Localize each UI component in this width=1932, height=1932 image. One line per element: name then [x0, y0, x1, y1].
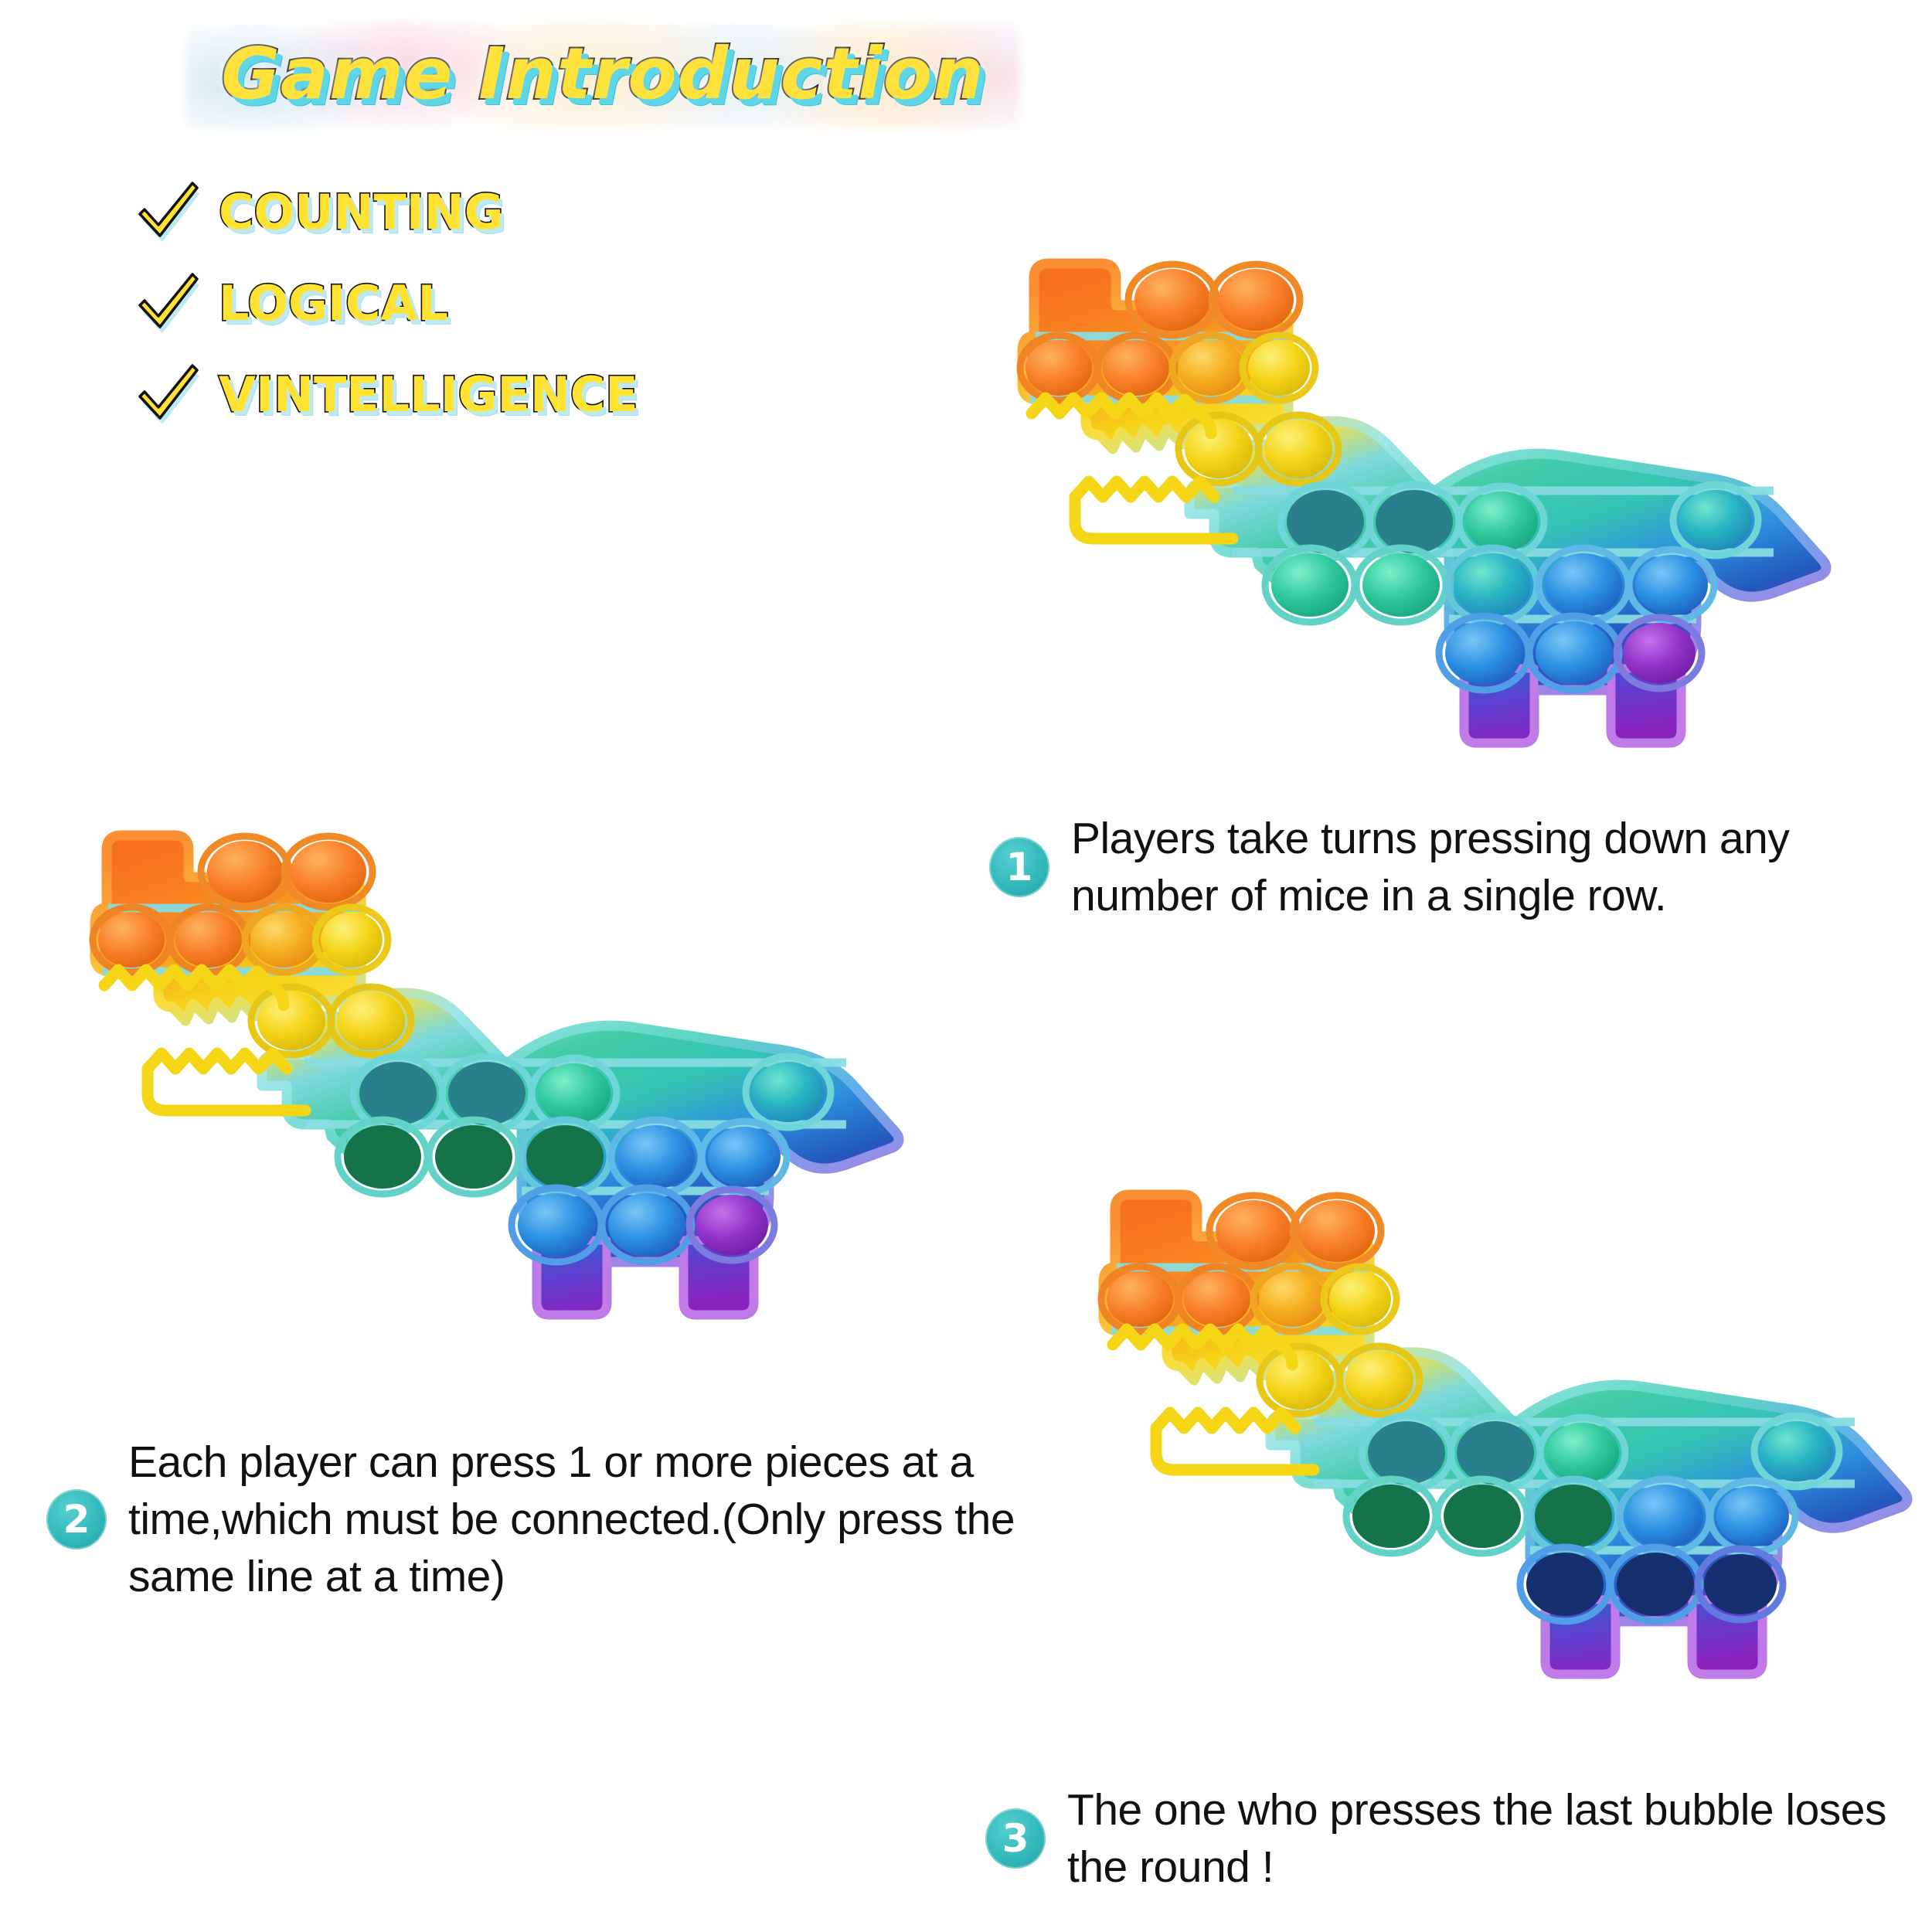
row-belly: [1520, 1547, 1783, 1621]
bubble-pressed: [1526, 1553, 1604, 1616]
feature-label: VINTELLIGENCE: [219, 366, 638, 423]
row-back: [1362, 1416, 1839, 1490]
step-number-badge: 1: [989, 837, 1049, 897]
feature-item-counting: COUNTING: [135, 166, 692, 257]
step-number-badge: 3: [985, 1808, 1046, 1869]
check-mark-icon: [135, 270, 202, 336]
feature-checklist: COUNTING LOGICAL VINTELLIGENCE: [135, 166, 692, 440]
dinosaur-pop-it-toy-2: [73, 761, 927, 1383]
row-head-middle: [1020, 335, 1315, 400]
bubble-pressed: [1535, 1485, 1612, 1548]
row-head-middle: [93, 907, 388, 972]
feature-item-vintelligence: VINTELLIGENCE: [135, 349, 692, 440]
step-description: Players take turns pressing down any num…: [1071, 810, 1924, 924]
poster-canvas: Game Introduction COUNTING LOGICAL: [0, 0, 1932, 1932]
bubble-pressed: [526, 1125, 604, 1189]
dinosaur-pop-it-toy-3: [1082, 1121, 1932, 1743]
bubble-pressed: [1617, 1553, 1694, 1616]
bubble-pressed: [1352, 1485, 1430, 1548]
step-3: 3 The one who presses the last bubble lo…: [985, 1781, 1932, 1896]
bubble-pressed: [1376, 490, 1453, 553]
step-description: Each player can press 1 or more pieces a…: [128, 1434, 1020, 1605]
step-description: The one who presses the last bubble lose…: [1067, 1781, 1932, 1896]
bubble-pressed: [1287, 490, 1364, 553]
check-mark-icon: [135, 361, 202, 427]
feature-item-logical: LOGICAL: [135, 257, 692, 349]
feature-label: COUNTING: [219, 184, 504, 240]
bubble-pressed: [448, 1062, 526, 1125]
step-1: 1 Players take turns pressing down any n…: [989, 810, 1924, 924]
bubble-pressed: [359, 1062, 437, 1125]
bubble-pressed: [1444, 1485, 1521, 1548]
bubble-pressed: [1704, 1554, 1777, 1614]
step-number-badge: 2: [46, 1489, 107, 1549]
check-mark-icon: [135, 179, 202, 245]
row-back: [1281, 485, 1758, 559]
bubble-pressed: [1368, 1421, 1445, 1485]
step-2: 2 Each player can press 1 or more pieces…: [46, 1434, 1020, 1605]
row-back: [353, 1056, 831, 1131]
feature-label: LOGICAL: [219, 275, 448, 332]
row-belly: [512, 1188, 774, 1262]
bubble-pressed: [1457, 1421, 1534, 1485]
row-head-middle: [1101, 1267, 1396, 1332]
page-title: Game Introduction: [185, 23, 1020, 124]
row-belly: [1439, 616, 1702, 690]
dinosaur-pop-it-toy-1: [1001, 189, 1855, 811]
bubble-pressed: [344, 1125, 421, 1189]
bubble-pressed: [435, 1125, 512, 1189]
